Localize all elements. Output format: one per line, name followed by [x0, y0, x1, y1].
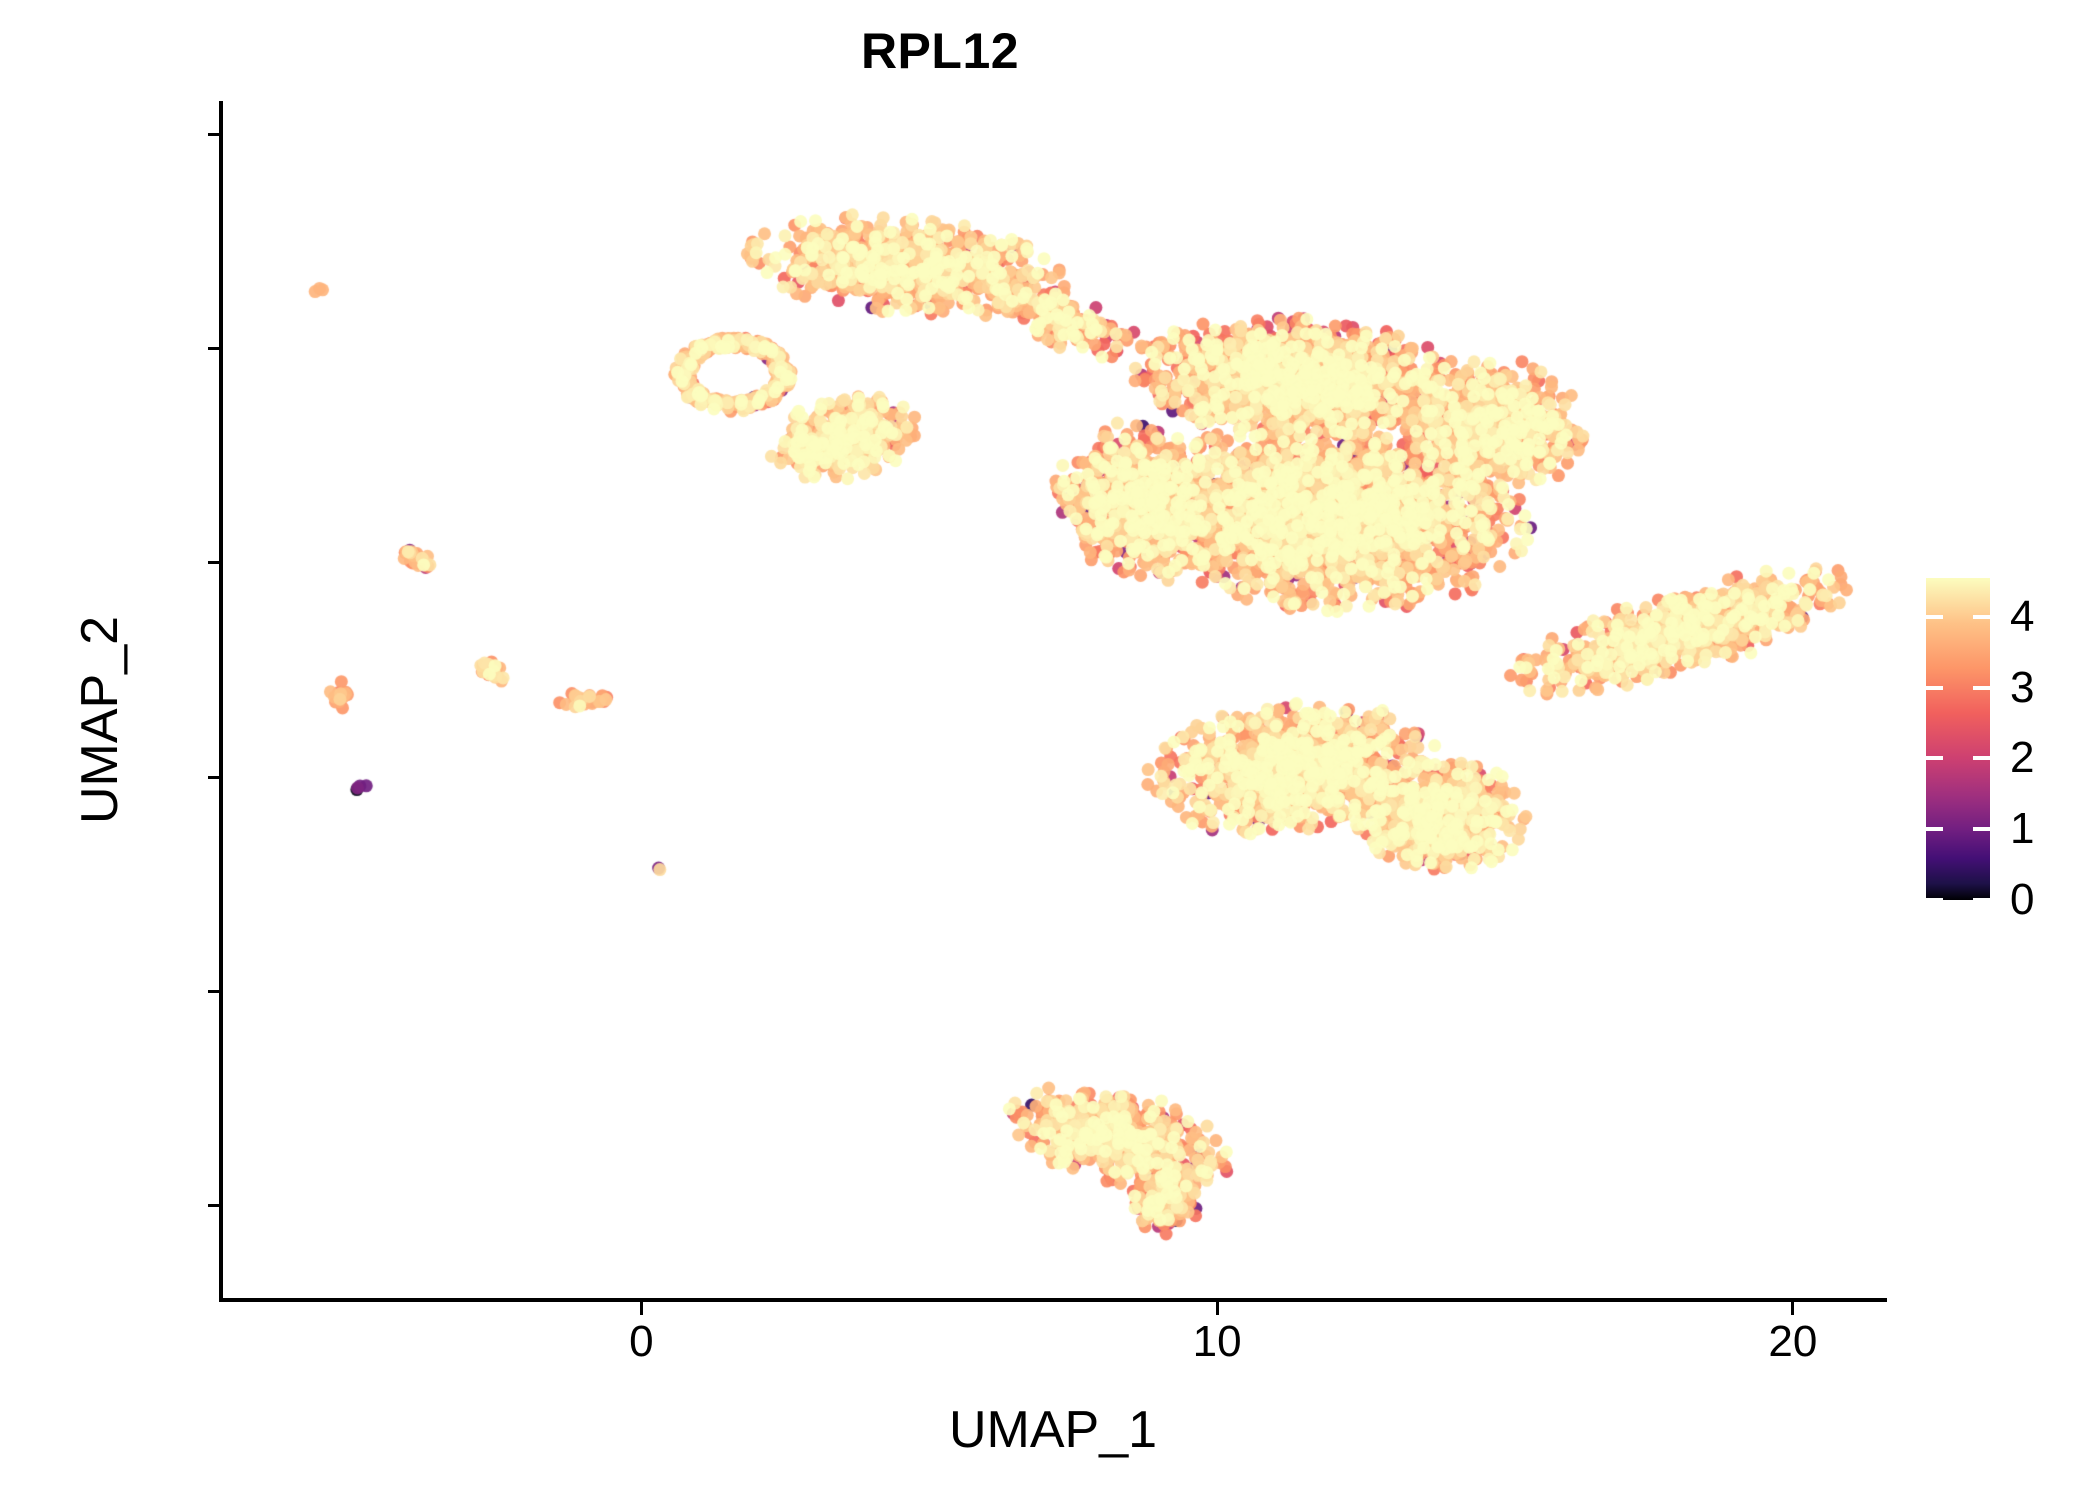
y-tick-mark — [208, 347, 220, 350]
plot-panel — [221, 100, 1885, 1300]
x-tick-label: 10 — [1157, 1320, 1277, 1364]
legend-tick-label: 2 — [2010, 736, 2034, 780]
legend-tick-label: 1 — [2010, 807, 2034, 851]
scatter-canvas — [221, 100, 1885, 1300]
x-axis-line — [219, 1298, 1887, 1302]
legend-tick-mark — [1926, 756, 1943, 760]
x-tick-mark — [640, 1302, 643, 1315]
legend-gradient-bar — [1926, 578, 1990, 900]
x-tick-label: 20 — [1733, 1320, 1853, 1364]
legend-tick-label: 4 — [2010, 595, 2034, 639]
feature-plot-root: RPL12 151050-5-10 01020 UMAP_1 UMAP_2 43… — [0, 0, 2100, 1500]
x-tick-mark — [1791, 1302, 1794, 1315]
x-tick-mark — [1216, 1302, 1219, 1315]
x-axis-title: UMAP_1 — [221, 1400, 1885, 1460]
legend-tick-mark — [1973, 827, 1990, 831]
legend-tick-mark — [1973, 756, 1990, 760]
y-axis-line — [219, 101, 223, 1302]
y-tick-mark — [208, 990, 220, 993]
color-legend — [1926, 578, 1990, 900]
y-tick-mark — [208, 1204, 220, 1207]
legend-tick-mark — [1926, 827, 1943, 831]
legend-tick-mark — [1973, 898, 1990, 902]
legend-tick-mark — [1926, 898, 1943, 902]
legend-tick-label: 0 — [2010, 878, 2034, 922]
page-title: RPL12 — [0, 22, 1880, 80]
x-tick-label: 0 — [581, 1320, 701, 1364]
legend-tick-mark — [1973, 615, 1990, 619]
legend-tick-mark — [1973, 686, 1990, 690]
y-tick-mark — [208, 561, 220, 564]
y-tick-mark — [208, 133, 220, 136]
legend-tick-mark — [1926, 615, 1943, 619]
legend-tick-label: 3 — [2010, 666, 2034, 710]
legend-tick-mark — [1926, 686, 1943, 690]
y-axis-title: UMAP_2 — [70, 370, 130, 1070]
y-tick-mark — [208, 776, 220, 779]
